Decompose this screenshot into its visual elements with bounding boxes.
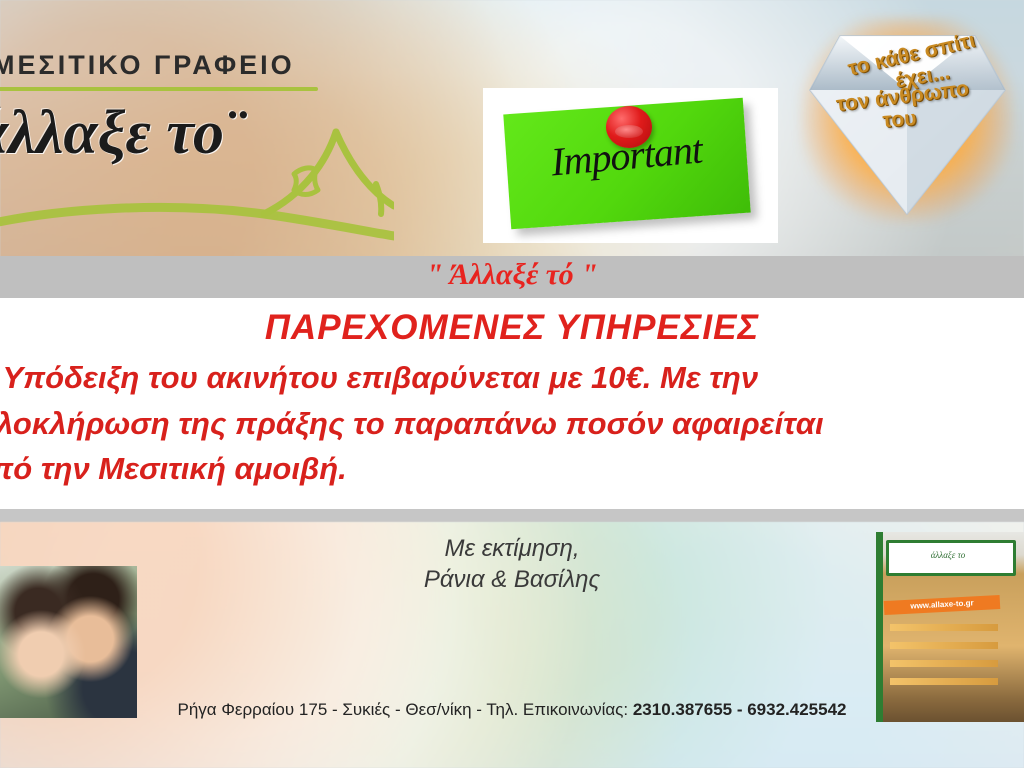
services-heading: ΠΑΡΕΧΟΜΕΝΕΣ ΥΠΗΡΕΣΙΕΣ bbox=[0, 308, 1024, 348]
diamond-badge: το κάθε σπίτι έχει... τον άνθρωπο του bbox=[800, 18, 1015, 223]
signature-line-1: Με εκτίμηση, bbox=[0, 534, 1024, 565]
diamond-text: το κάθε σπίτι έχει... τον άνθρωπο του bbox=[800, 44, 1015, 131]
contact-footer: Ρήγα Φερραίου 175 - Συκιές - Θεσ/νίκη - … bbox=[0, 700, 1024, 720]
body-line-1: Η Υπόδειξη του ακινήτου επιβαρύνεται με … bbox=[0, 355, 1024, 401]
body-line-2: Ολοκλήρωση της πράξης το παραπάνω ποσόν … bbox=[0, 401, 1024, 447]
services-body: Η Υπόδειξη του ακινήτου επιβαρύνεται με … bbox=[0, 355, 1024, 492]
band-title: " Άλλαξέ τό " bbox=[0, 258, 1024, 292]
logo-office-label: ΜΕΣΙΤΙΚΟ ΓΡΑΦΕΙΟ bbox=[0, 50, 295, 81]
body-line-3: από την Μεσιτική αμοιβή. bbox=[0, 446, 1024, 492]
contact-address: Ρήγα Φερραίου 175 - Συκιές - Θεσ/νίκη - … bbox=[178, 700, 633, 719]
flyer-page: ΜΕΣΙΤΙΚΟ ΓΡΑΦΕΙΟ άλλαξε το¨ Important bbox=[0, 0, 1024, 768]
important-note: Important bbox=[483, 88, 778, 243]
logo-brand-text: άλλαξε το¨ bbox=[0, 98, 245, 169]
pushpin-icon bbox=[606, 106, 652, 148]
signature-line-2: Ράνια & Βασίλης bbox=[0, 565, 1024, 596]
logo-underline bbox=[0, 87, 318, 91]
company-logo: ΜΕΣΙΤΙΚΟ ΓΡΑΦΕΙΟ άλλαξε το¨ bbox=[0, 40, 394, 230]
signature: Με εκτίμηση, Ράνια & Βασίλης bbox=[0, 534, 1024, 595]
section-divider bbox=[0, 509, 1024, 522]
contact-phones: 2310.387655 - 6932.425542 bbox=[633, 700, 847, 719]
